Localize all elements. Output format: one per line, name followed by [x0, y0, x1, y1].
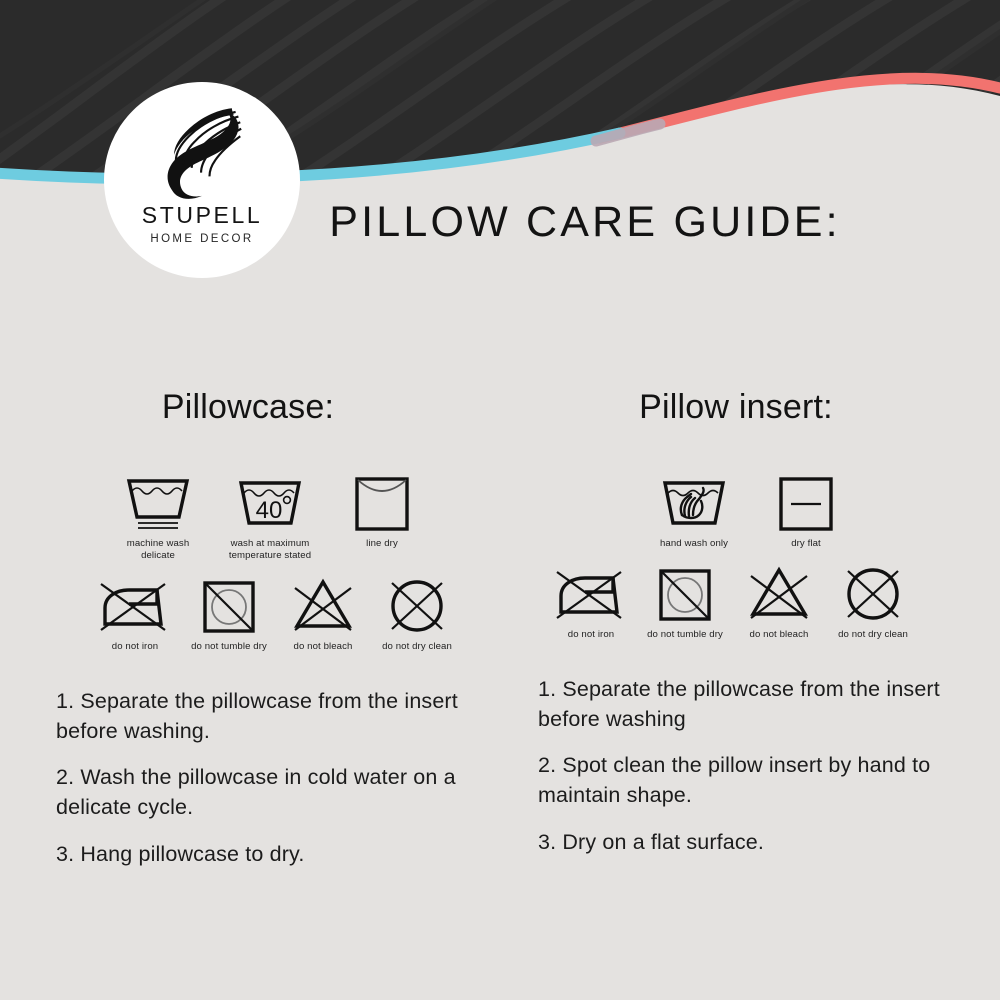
pillowcase-symbol-row-1: machine wash delicate 40 wash at maximum…: [40, 475, 500, 562]
symbol-do-not-dry-clean: do not dry clean: [370, 578, 464, 653]
symbol-do-not-bleach: do not bleach: [276, 578, 370, 653]
do-not-bleach-icon: [747, 566, 811, 622]
instruction-item: 2. Wash the pillowcase in cold water on …: [56, 763, 486, 822]
do-not-dry-clean-icon: [386, 578, 448, 634]
symbol-caption: do not dry clean: [382, 641, 452, 653]
pillow-insert-section-title: Pillow insert:: [520, 388, 980, 427]
symbol-caption: machine wash delicate: [110, 538, 206, 562]
do-not-tumble-dry-icon: [198, 578, 260, 634]
symbol-wash-max-temperature: 40 wash at maximum temperature stated: [214, 475, 326, 562]
symbol-do-not-iron: do not iron: [88, 578, 182, 653]
symbol-do-not-bleach: do not bleach: [732, 566, 826, 641]
logo-subtitle: HOME DECOR: [150, 234, 253, 246]
symbol-do-not-iron: do not iron: [544, 566, 638, 641]
symbol-machine-wash-delicate: machine wash delicate: [102, 475, 214, 562]
symbol-caption: do not bleach: [750, 629, 809, 641]
symbol-caption: do not bleach: [294, 641, 353, 653]
wash-temperature-value: 40: [256, 497, 283, 524]
pillow-insert-section: Pillow insert: hand wash only: [520, 388, 980, 874]
symbol-dry-flat: dry flat: [750, 475, 862, 550]
brand-logo: STUPELL HOME DECOR: [104, 82, 300, 278]
pillow-insert-symbol-row-2: do not iron do not tumble dry do not: [520, 566, 980, 641]
instruction-item: 1. Separate the pillowcase from the inse…: [56, 687, 486, 746]
do-not-iron-icon: [555, 566, 627, 622]
swan-logo-icon: [146, 104, 258, 202]
instruction-item: 3. Dry on a flat surface.: [538, 828, 968, 858]
symbol-do-not-dry-clean: do not dry clean: [826, 566, 920, 641]
symbol-line-dry: line dry: [326, 475, 438, 562]
instruction-item: 3. Hang pillowcase to dry.: [56, 840, 486, 870]
do-not-tumble-dry-icon: [654, 566, 716, 622]
symbol-caption: wash at maximum temperature stated: [222, 538, 318, 562]
wash-max-temperature-40-icon: 40: [233, 475, 307, 531]
machine-wash-delicate-icon: [121, 475, 195, 531]
symbol-do-not-tumble-dry: do not tumble dry: [182, 578, 276, 653]
symbol-hand-wash-only: hand wash only: [638, 475, 750, 550]
do-not-bleach-icon: [291, 578, 355, 634]
instruction-item: 2. Spot clean the pillow insert by hand …: [538, 751, 968, 810]
symbol-caption: do not iron: [568, 629, 614, 641]
symbol-caption: do not iron: [112, 641, 158, 653]
pillow-insert-symbol-row-1: hand wash only dry flat: [520, 475, 980, 550]
logo-name: STUPELL: [142, 204, 262, 227]
do-not-iron-icon: [99, 578, 171, 634]
pillowcase-section: Pillowcase: machine wash delicate 40: [40, 388, 500, 886]
pillowcase-symbol-row-2: do not iron do not tumble dry do not: [40, 578, 500, 653]
symbol-caption: do not tumble dry: [647, 629, 723, 641]
line-dry-icon: [349, 475, 415, 531]
symbol-caption: do not tumble dry: [191, 641, 267, 653]
instruction-item: 1. Separate the pillowcase from the inse…: [538, 675, 968, 734]
pillowcase-section-title: Pillowcase:: [40, 388, 500, 427]
symbol-caption: hand wash only: [660, 538, 728, 550]
hand-wash-only-icon: [657, 475, 731, 531]
symbol-do-not-tumble-dry: do not tumble dry: [638, 566, 732, 641]
pillow-insert-instructions: 1. Separate the pillowcase from the inse…: [520, 675, 980, 857]
symbol-caption: do not dry clean: [838, 629, 908, 641]
pillowcase-instructions: 1. Separate the pillowcase from the inse…: [40, 687, 500, 869]
dry-flat-icon: [773, 475, 839, 531]
symbol-caption: dry flat: [791, 538, 821, 550]
do-not-dry-clean-icon: [842, 566, 904, 622]
symbol-caption: line dry: [366, 538, 398, 550]
